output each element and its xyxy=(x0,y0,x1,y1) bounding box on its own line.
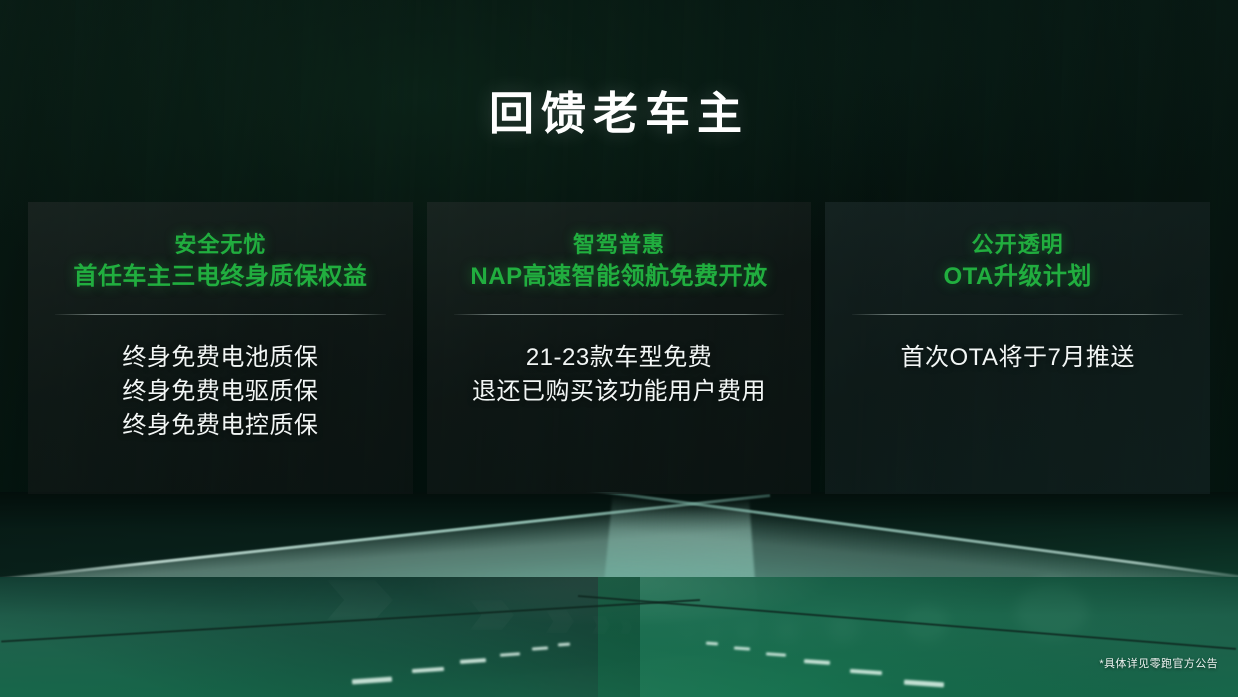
card-divider xyxy=(852,314,1183,315)
card-body-item: 退还已购买该功能用户费用 xyxy=(427,375,812,409)
slide-footnote: *具体详见零跑官方公告 xyxy=(1099,655,1218,671)
benefit-card-ota: 公开透明 OTA升级计划 首次OTA将于7月推送 xyxy=(825,202,1210,494)
benefit-card-warranty: 安全无忧 首任车主三电终身质保权益 终身免费电池质保 终身免费电驱质保 终身免费… xyxy=(28,202,413,494)
card-heading-line2: NAP高速智能领航免费开放 xyxy=(427,260,812,294)
card-body-item: 首次OTA将于7月推送 xyxy=(825,341,1210,375)
card-body-item: 终身免费电池质保 xyxy=(28,341,413,375)
benefit-card-group: 安全无忧 首任车主三电终身质保权益 终身免费电池质保 终身免费电驱质保 终身免费… xyxy=(28,202,1210,494)
benefit-card-nap: 智驾普惠 NAP高速智能领航免费开放 21-23款车型免费 退还已购买该功能用户… xyxy=(427,202,812,494)
card-body: 终身免费电池质保 终身免费电驱质保 终身免费电控质保 xyxy=(28,341,413,443)
card-body-item: 终身免费电驱质保 xyxy=(28,375,413,409)
tunnel-road-right-glow xyxy=(598,577,1238,697)
tunnel-background-image xyxy=(0,492,1238,697)
slide-title: 回馈老车主 xyxy=(0,88,1238,140)
card-heading-line1: 智驾普惠 xyxy=(427,230,812,260)
card-heading-line1: 安全无忧 xyxy=(28,230,413,260)
card-heading-line2: 首任车主三电终身质保权益 xyxy=(28,260,413,294)
presentation-slide: 回馈老车主 安全无忧 首任车主三电终身质保权益 终身免费电池质保 终身免费电驱质… xyxy=(0,0,1238,697)
card-heading-line2: OTA升级计划 xyxy=(825,260,1210,294)
card-heading-line1: 公开透明 xyxy=(825,230,1210,260)
card-divider xyxy=(454,314,785,315)
card-heading: 智驾普惠 NAP高速智能领航免费开放 xyxy=(427,230,812,294)
card-body-item: 21-23款车型免费 xyxy=(427,341,812,375)
card-heading: 安全无忧 首任车主三电终身质保权益 xyxy=(28,230,413,294)
card-divider xyxy=(55,314,386,315)
card-heading: 公开透明 OTA升级计划 xyxy=(825,230,1210,294)
tunnel-road-left-shadow xyxy=(0,577,640,697)
card-body: 21-23款车型免费 退还已购买该功能用户费用 xyxy=(427,341,812,409)
card-body: 首次OTA将于7月推送 xyxy=(825,341,1210,375)
card-body-item: 终身免费电控质保 xyxy=(28,409,413,443)
